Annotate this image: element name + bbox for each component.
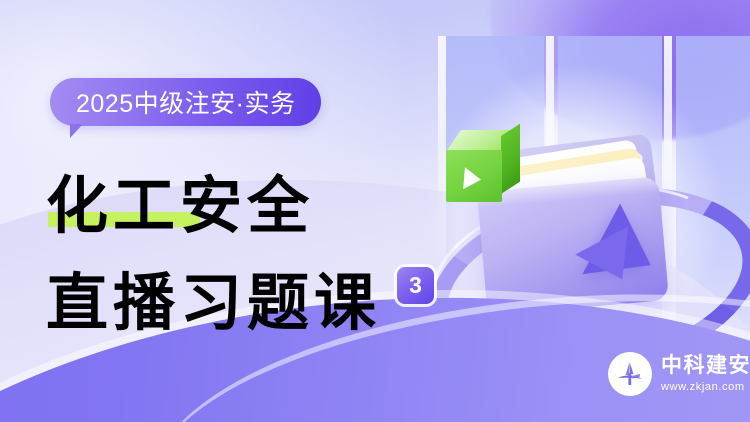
- logo-mark-icon: [608, 352, 652, 396]
- course-banner: 2025中级注安·实务 化工安全 直播习题课 3 中科建安 www.zkjan.…: [0, 0, 750, 422]
- brand-logo: 中科建安 www.zkjan.com: [608, 352, 750, 396]
- brand-logo-text: 中科建安 www.zkjan.com: [661, 355, 750, 392]
- brand-name: 中科建安: [661, 355, 750, 377]
- badge-speech-tail: [70, 124, 83, 138]
- brand-url: www.zkjan.com: [661, 381, 750, 393]
- page-title-line-2: 直播习题课: [46, 252, 381, 342]
- banner-text-block: 2025中级注安·实务 化工安全 直播习题课 3: [0, 0, 470, 422]
- cube-side-face: [501, 124, 520, 194]
- episode-number-badge: 3: [397, 267, 434, 304]
- page-title-line-1: 化工安全: [46, 155, 314, 245]
- course-category-badge: 2025中级注安·实务: [50, 78, 321, 126]
